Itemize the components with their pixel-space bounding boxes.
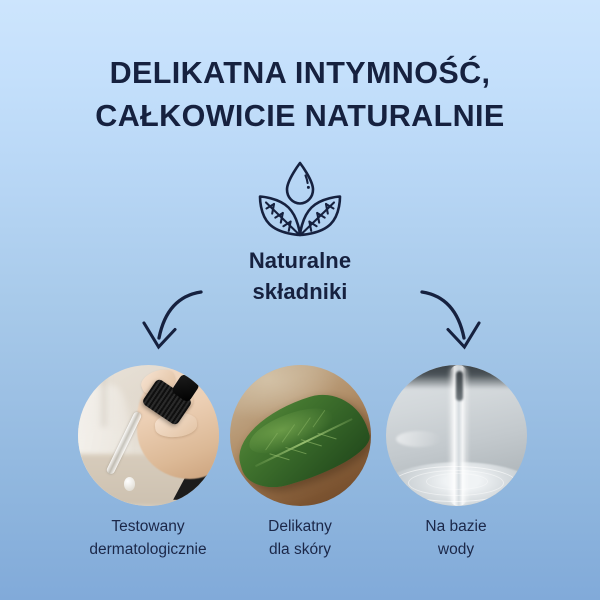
caption-3-line-2: wody [351, 539, 561, 562]
curved-arrow-left-icon [135, 276, 240, 354]
photo-art-leaf [230, 365, 371, 506]
droplet-and-leaves-icon [245, 160, 355, 238]
photo-art-dropper [78, 365, 219, 506]
subtitle: Naturalne składniki [0, 245, 600, 307]
headline-line-1: DELIKATNA INTYMNOŚĆ, [0, 52, 600, 95]
feature-caption-3: Na bazie wody [351, 516, 561, 561]
photo-art-water [386, 365, 527, 506]
headline-line-2: CAŁKOWICIE NATURALNIE [0, 95, 600, 138]
subtitle-line-1: Naturalne [0, 245, 600, 276]
subtitle-line-2: składniki [0, 276, 600, 307]
pouring-water-photo [386, 365, 527, 506]
green-leaf-photo [230, 365, 371, 506]
curved-arrow-right-icon [383, 276, 488, 354]
dropper-in-hand-photo [78, 365, 219, 506]
promo-poster: DELIKATNA INTYMNOŚĆ, CAŁKOWICIE NATURALN… [0, 0, 600, 600]
page-title: DELIKATNA INTYMNOŚĆ, CAŁKOWICIE NATURALN… [0, 52, 600, 137]
caption-3-line-1: Na bazie [351, 516, 561, 539]
